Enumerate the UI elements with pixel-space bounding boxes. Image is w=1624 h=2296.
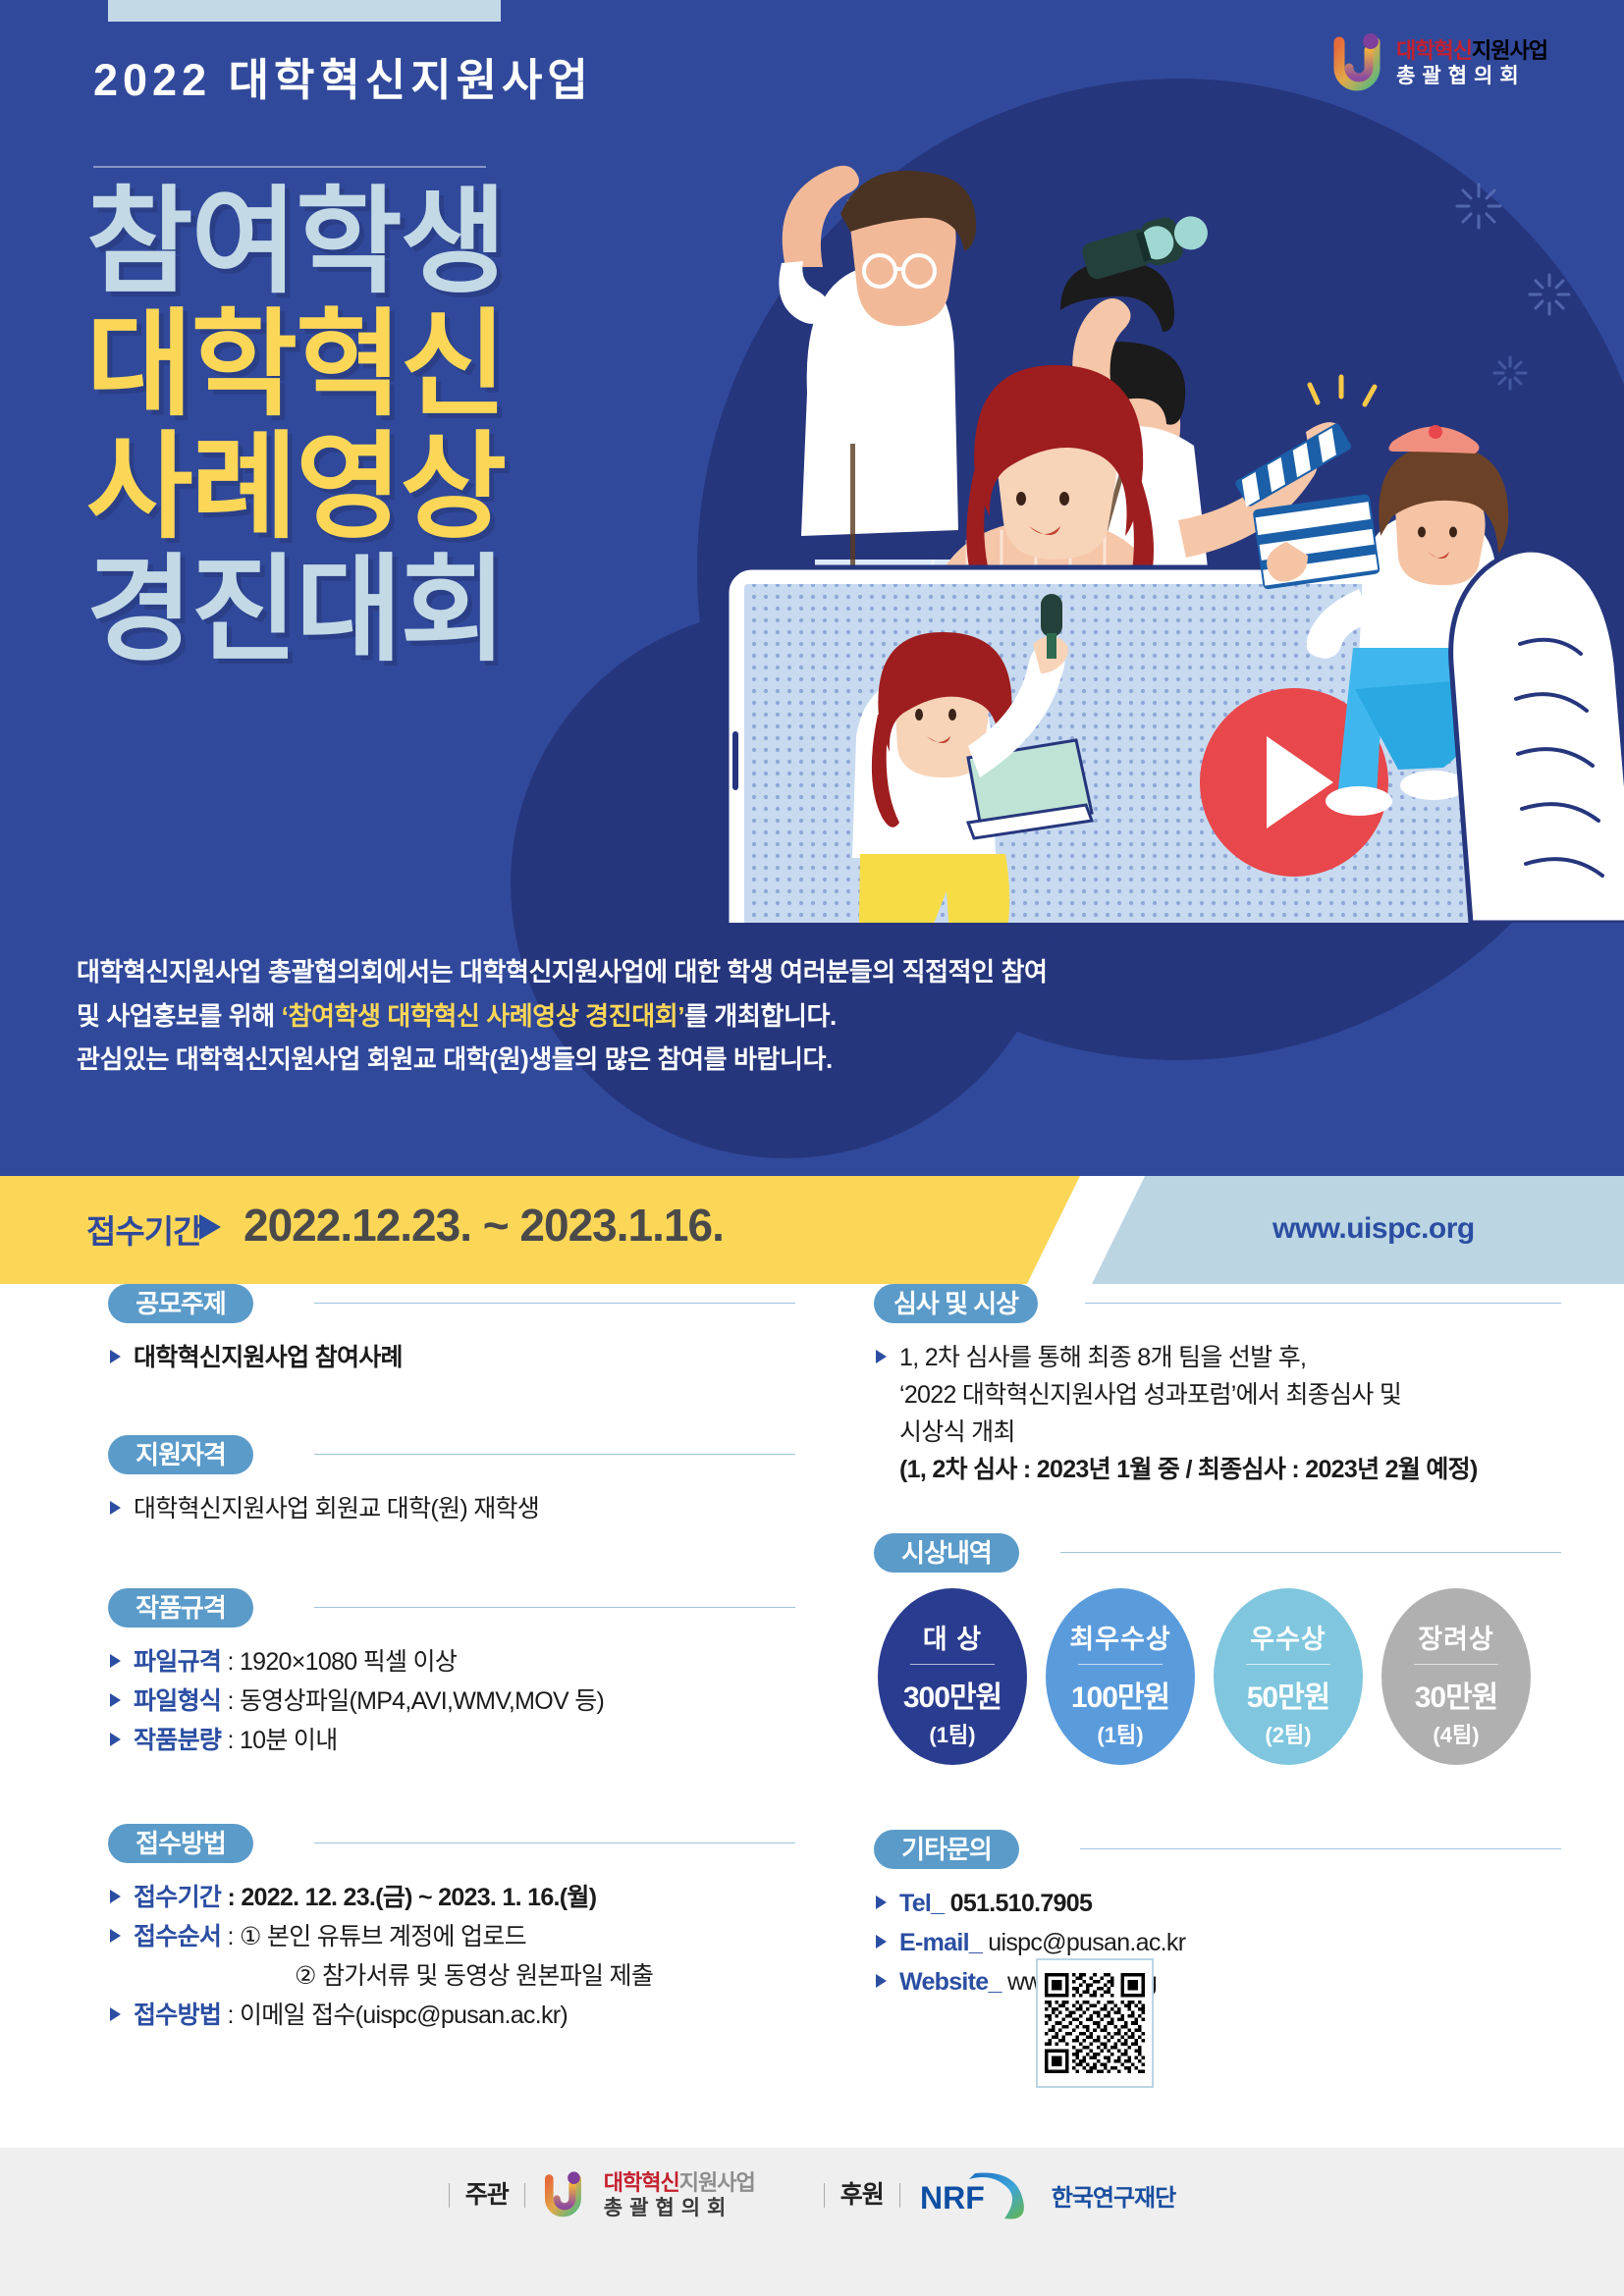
section-howto-body: 접수기간 : 2022. 12. 23.(금) ~ 2023. 1. 16.(월… xyxy=(108,1879,795,2034)
section-eligibility: 지원자격 대학혁신지원사업 회원교 대학(원) 재학생 xyxy=(108,1435,795,1527)
right-column: 심사 및 시상 1, 2차 심사를 통해 최종 8개 팀을 선발 후, ‘202… xyxy=(874,1284,1561,2002)
logo-text-gray: 지원사업 xyxy=(1472,38,1547,63)
section-eligibility-body: 대학혁신지원사업 회원교 대학(원) 재학생 xyxy=(108,1490,795,1527)
list-item: 대학혁신지원사업 회원교 대학(원) 재학생 xyxy=(108,1490,795,1527)
list-item-key: 파일형식 xyxy=(134,1687,221,1715)
nrf-logo-mark: NRF xyxy=(918,2169,1034,2220)
section-topic-heading: 공모주제 xyxy=(108,1284,253,1323)
list-item-key: 작품분량 xyxy=(134,1727,221,1754)
uispc-logo-mark-footer xyxy=(543,2170,586,2219)
award-amount: 300만원 xyxy=(878,1673,1027,1716)
section-contact-body: Tel_ 051.510.7905 E-mail_ uispc@pusan.ac… xyxy=(874,1885,1561,2001)
section-judging-body: 1, 2차 심사를 통해 최종 8개 팀을 선발 후, ‘2022 대학혁신지원… xyxy=(874,1339,1561,1488)
poster-year-title: 2022 대학혁신지원사업 xyxy=(93,44,593,108)
award-amount: 30만원 xyxy=(1381,1673,1531,1716)
contact-email-value: uispc@pusan.ac.kr xyxy=(982,1929,1185,1956)
section-judging-rule xyxy=(1085,1303,1561,1304)
footer-logo-text-red: 대학혁신 xyxy=(604,2170,679,2195)
list-item: 파일형식 : 동영상파일(MP4,AVI,WMV,MOV 등) xyxy=(108,1682,795,1720)
banner-dates: 2022.12.23. ~ 2023.1.16. xyxy=(244,1199,724,1252)
footer-sponsor-group: 후원 NRF 한국연구재단 xyxy=(824,2169,1176,2220)
poster-description: 대학혁신지원사업 총괄협의회에서는 대학혁신지원사업에 대한 학생 여러분들의 … xyxy=(77,950,1157,1082)
award-teams: (1팀) xyxy=(1046,1718,1195,1749)
judging-line-3: 시상식 개최 xyxy=(899,1418,1015,1446)
list-item: 접수방법 : 이메일 접수(uispc@pusan.ac.kr) xyxy=(108,1997,795,2034)
award-divider xyxy=(910,1664,995,1665)
section-spec-body: 파일규격 : 1920×1080 픽셀 이상 파일형식 : 동영상파일(MP4,… xyxy=(108,1643,795,1759)
title-line-2: 대학혁신 xyxy=(86,304,734,427)
logo-text-red: 대학혁신 xyxy=(1396,38,1472,63)
section-awards-heading: 시상내역 xyxy=(874,1533,1019,1573)
list-item: 1, 2차 심사를 통해 최종 8개 팀을 선발 후, ‘2022 대학혁신지원… xyxy=(874,1339,1561,1488)
banner-label: 접수기간 xyxy=(86,1205,201,1253)
description-highlight: ‘참여학생 대학혁신 사례영상 경진대회’ xyxy=(282,1001,684,1031)
award-amount: 50만원 xyxy=(1214,1673,1363,1716)
section-judging: 심사 및 시상 1, 2차 심사를 통해 최종 8개 팀을 선발 후, ‘202… xyxy=(874,1284,1561,1488)
section-howto: 접수방법 접수기간 : 2022. 12. 23.(금) ~ 2023. 1. … xyxy=(108,1824,795,2034)
award-name: 최우수상 xyxy=(1046,1618,1195,1656)
award-teams: (1팀) xyxy=(878,1718,1027,1749)
section-topic: 공모주제 대학혁신지원사업 참여사례 xyxy=(108,1284,795,1376)
section-spec: 작품규격 파일규격 : 1920×1080 픽셀 이상 파일형식 : 동영상파일… xyxy=(108,1588,795,1759)
section-spec-heading: 작품규격 xyxy=(108,1588,253,1628)
left-column: 공모주제 대학혁신지원사업 참여사례 지원자격 대학혁신지원사업 회원교 대학(… xyxy=(108,1284,795,2036)
list-item-key: 접수기간 xyxy=(134,1884,221,1911)
logo-text-council: 총괄협의회 xyxy=(1396,66,1547,86)
award-amount: 100만원 xyxy=(1046,1673,1195,1716)
footer: 주관 대학혁신지원사업 xyxy=(0,2148,1624,2296)
footer-logo-text-council: 총괄협의회 xyxy=(604,2198,755,2218)
contact-email-label: E-mail_ xyxy=(899,1929,982,1956)
qr-code-image xyxy=(1045,1967,1145,2079)
section-eligibility-rule xyxy=(314,1454,795,1455)
organizer-logo: 대학혁신지원사업 총괄협의회 xyxy=(1331,32,1547,93)
award-teams: (2팀) xyxy=(1214,1718,1363,1749)
award-name: 장려상 xyxy=(1381,1618,1531,1656)
info-section: 공모주제 대학혁신지원사업 참여사례 지원자격 대학혁신지원사업 회원교 대학(… xyxy=(0,1284,1624,2148)
section-awards: 시상내역 대 상 300만원 (1팀) 최우수상 100만원 (1팀) 우수상 xyxy=(874,1533,1561,1781)
section-topic-rule xyxy=(314,1303,795,1304)
banner-website-link[interactable]: www.uispc.org xyxy=(1272,1212,1475,1246)
description-line-3: 관심있는 대학혁신지원사업 회원교 대학(원)생들의 많은 참여를 바랍니다. xyxy=(77,1038,1157,1082)
list-item: 대학혁신지원사업 참여사례 xyxy=(108,1339,795,1376)
qr-code[interactable] xyxy=(1036,1958,1154,2088)
list-item-value: : 1920×1080 픽셀 이상 xyxy=(221,1648,457,1676)
footer-host-tag: 주관 xyxy=(449,2183,525,2208)
award-teams: (4팀) xyxy=(1381,1718,1531,1749)
list-item-value: : 10분 이내 xyxy=(221,1727,337,1754)
list-item: 파일규격 : 1920×1080 픽셀 이상 xyxy=(108,1643,795,1681)
title-line-4: 경진대회 xyxy=(86,550,734,672)
nrf-logo-name: 한국연구재단 xyxy=(1052,2178,1175,2213)
award-item: 우수상 50만원 (2팀) xyxy=(1214,1588,1363,1765)
section-contact-rule xyxy=(1080,1848,1561,1849)
footer-host-logotext: 대학혁신지원사업 총괄협의회 xyxy=(604,2172,755,2218)
awards-row: 대 상 300만원 (1팀) 최우수상 100만원 (1팀) 우수상 50만원 … xyxy=(874,1588,1561,1781)
submission-period-banner: 접수기간 2022.12.23. ~ 2023.1.16. www.uispc.… xyxy=(0,1176,1624,1284)
contact-tel: Tel_ 051.510.7905 xyxy=(874,1885,1561,1922)
judging-line-1: 1, 2차 심사를 통해 최종 8개 팀을 선발 후, xyxy=(899,1344,1306,1371)
top-accent-bar xyxy=(108,0,501,22)
section-judging-heading: 심사 및 시상 xyxy=(874,1284,1038,1323)
award-divider xyxy=(1246,1664,1330,1665)
uispc-logo-mark xyxy=(1331,32,1386,93)
list-item-value: : 이메일 접수(uispc@pusan.ac.kr) xyxy=(221,2002,568,2029)
list-item-key: 접수방법 xyxy=(134,2002,221,2029)
svg-text:NRF: NRF xyxy=(920,2180,985,2216)
description-line-2-post: 를 개최합니다. xyxy=(684,1001,837,1031)
award-item: 장려상 30만원 (4팀) xyxy=(1381,1588,1531,1765)
poster-main-title: 참여학생 대학혁신 사례영상 경진대회 xyxy=(86,182,734,672)
list-item-value: ② 참가서류 및 동영상 원본파일 제출 xyxy=(295,1962,653,1990)
section-contact-heading: 기타문의 xyxy=(874,1830,1019,1869)
award-name: 우수상 xyxy=(1214,1618,1363,1656)
title-line-1: 참여학생 xyxy=(86,182,734,304)
footer-logos: 주관 대학혁신지원사업 xyxy=(0,2169,1624,2220)
contact-tel-label: Tel_ xyxy=(899,1890,944,1917)
contact-website[interactable]: Website_ www.uispc.org xyxy=(874,1963,1561,2001)
list-item: 접수기간 : 2022. 12. 23.(금) ~ 2023. 1. 16.(월… xyxy=(108,1879,795,1916)
title-divider xyxy=(93,166,486,168)
list-item: 작품분량 : 10분 이내 xyxy=(108,1722,795,1759)
title-line-3: 사례영상 xyxy=(86,427,734,550)
list-item: 접수순서 : ① 본인 유튜브 계정에 업로드 xyxy=(108,1918,795,1955)
list-item-key: 파일규격 xyxy=(134,1648,221,1676)
award-name: 대 상 xyxy=(878,1618,1027,1656)
list-item: ② 참가서류 및 동영상 원본파일 제출 xyxy=(108,1957,795,1995)
section-howto-heading: 접수방법 xyxy=(108,1824,253,1863)
contact-website-label: Website_ xyxy=(899,1968,1001,1996)
list-item-key: 접수순서 xyxy=(134,1923,221,1950)
list-item-value: : 2022. 12. 23.(금) ~ 2023. 1. 16.(월) xyxy=(221,1884,596,1911)
description-line-2-pre: 및 사업홍보를 위해 xyxy=(77,1001,282,1031)
footer-host-group: 주관 대학혁신지원사업 xyxy=(449,2170,755,2219)
award-divider xyxy=(1078,1664,1163,1665)
footer-logo-text-gray: 지원사업 xyxy=(679,2170,755,2195)
award-divider xyxy=(1414,1664,1498,1665)
section-contact: 기타문의 Tel_ 051.510.7905 E-mail_ uispc@pus… xyxy=(874,1830,1561,2001)
award-item: 최우수상 100만원 (1팀) xyxy=(1046,1588,1195,1765)
section-topic-body: 대학혁신지원사업 참여사례 xyxy=(108,1339,795,1376)
list-item-value: : ① 본인 유튜브 계정에 업로드 xyxy=(221,1923,526,1950)
judging-line-4: (1, 2차 심사 : 2023년 1월 중 / 최종심사 : 2023년 2월… xyxy=(899,1456,1478,1483)
description-line-2: 및 사업홍보를 위해 ‘참여학생 대학혁신 사례영상 경진대회’를 개최합니다. xyxy=(77,994,1157,1039)
footer-sponsor-tag: 후원 xyxy=(824,2183,900,2208)
hero-section: 대학혁신지원사업 총괄협의회 2022 대학혁신지원사업 참여학생 대학혁신 사… xyxy=(0,0,1624,1176)
section-spec-rule xyxy=(314,1607,795,1608)
section-awards-rule xyxy=(1060,1552,1561,1553)
judging-line-2: ‘2022 대학혁신지원사업 성과포럼’에서 최종심사 및 xyxy=(899,1381,1401,1409)
arrow-right-icon xyxy=(199,1214,221,1240)
list-item-value: : 동영상파일(MP4,AVI,WMV,MOV 등) xyxy=(221,1687,604,1715)
award-item: 대 상 300만원 (1팀) xyxy=(878,1588,1027,1765)
section-eligibility-heading: 지원자격 xyxy=(108,1435,253,1474)
contact-email[interactable]: E-mail_ uispc@pusan.ac.kr xyxy=(874,1924,1561,1961)
contact-tel-value: 051.510.7905 xyxy=(944,1890,1092,1917)
section-howto-rule xyxy=(314,1842,795,1843)
description-line-1: 대학혁신지원사업 총괄협의회에서는 대학혁신지원사업에 대한 학생 여러분들의 … xyxy=(77,950,1157,994)
